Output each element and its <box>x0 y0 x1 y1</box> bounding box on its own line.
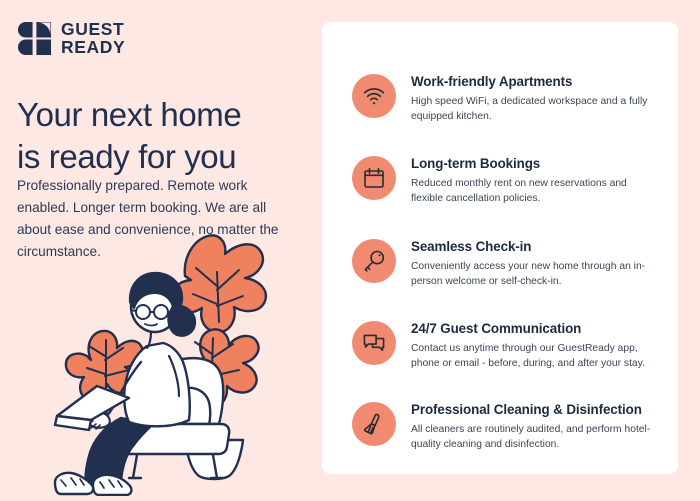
feature-description: Reduced monthly rent on new reservations… <box>411 176 660 206</box>
feature-description: Contact us anytime through our GuestRead… <box>411 341 660 371</box>
feature-title: Long-term Bookings <box>411 155 660 172</box>
calendar-icon <box>352 156 396 200</box>
wifi-icon <box>352 74 396 118</box>
feature-title: Work-friendly Apartments <box>411 73 660 90</box>
feature-description: All cleaners are routinely audited, and … <box>411 422 660 452</box>
headline-line-2: is ready for you <box>17 136 307 178</box>
brand-name-line2: READY <box>61 39 125 57</box>
feature-text: Work-friendly Apartments High speed WiFi… <box>411 72 660 124</box>
feature-item-seamless-check-in[interactable]: Seamless Check-in Conveniently access yo… <box>352 237 660 289</box>
feature-item-professional-cleaning[interactable]: Professional Cleaning & Disinfection All… <box>352 400 660 452</box>
feature-title: Professional Cleaning & Disinfection <box>411 401 660 418</box>
feature-text: Professional Cleaning & Disinfection All… <box>411 400 660 452</box>
brand-wordmark: GUEST READY <box>61 21 125 57</box>
feature-description: Conveniently access your new home throug… <box>411 259 660 289</box>
feature-title: 24/7 Guest Communication <box>411 320 660 337</box>
feature-text: Long-term Bookings Reduced monthly rent … <box>411 154 660 206</box>
broom-icon <box>352 402 396 446</box>
feature-item-work-friendly-apartments[interactable]: Work-friendly Apartments High speed WiFi… <box>352 72 660 124</box>
feature-title: Seamless Check-in <box>411 238 660 255</box>
brand-logo[interactable]: GUEST READY <box>17 21 125 57</box>
chat-bubbles-icon <box>352 321 396 365</box>
feature-text: 24/7 Guest Communication Contact us anyt… <box>411 319 660 371</box>
feature-text: Seamless Check-in Conveniently access yo… <box>411 237 660 289</box>
features-panel: Work-friendly Apartments High speed WiFi… <box>322 22 678 474</box>
feature-item-guest-communication[interactable]: 24/7 Guest Communication Contact us anyt… <box>352 319 660 371</box>
hero-column: GUEST READY Your next home is ready for … <box>0 0 320 500</box>
feature-item-long-term-bookings[interactable]: Long-term Bookings Reduced monthly rent … <box>352 154 660 206</box>
guestready-logo-mark-icon <box>17 21 52 56</box>
marketing-page: GUEST READY Your next home is ready for … <box>0 0 700 500</box>
feature-description: High speed WiFi, a dedicated workspace a… <box>411 94 660 124</box>
woman-on-chair-with-laptop-and-plants-illustration <box>33 228 323 496</box>
page-title: Your next home is ready for you <box>17 94 307 177</box>
headline-line-1: Your next home <box>17 94 307 136</box>
key-icon <box>352 239 396 283</box>
